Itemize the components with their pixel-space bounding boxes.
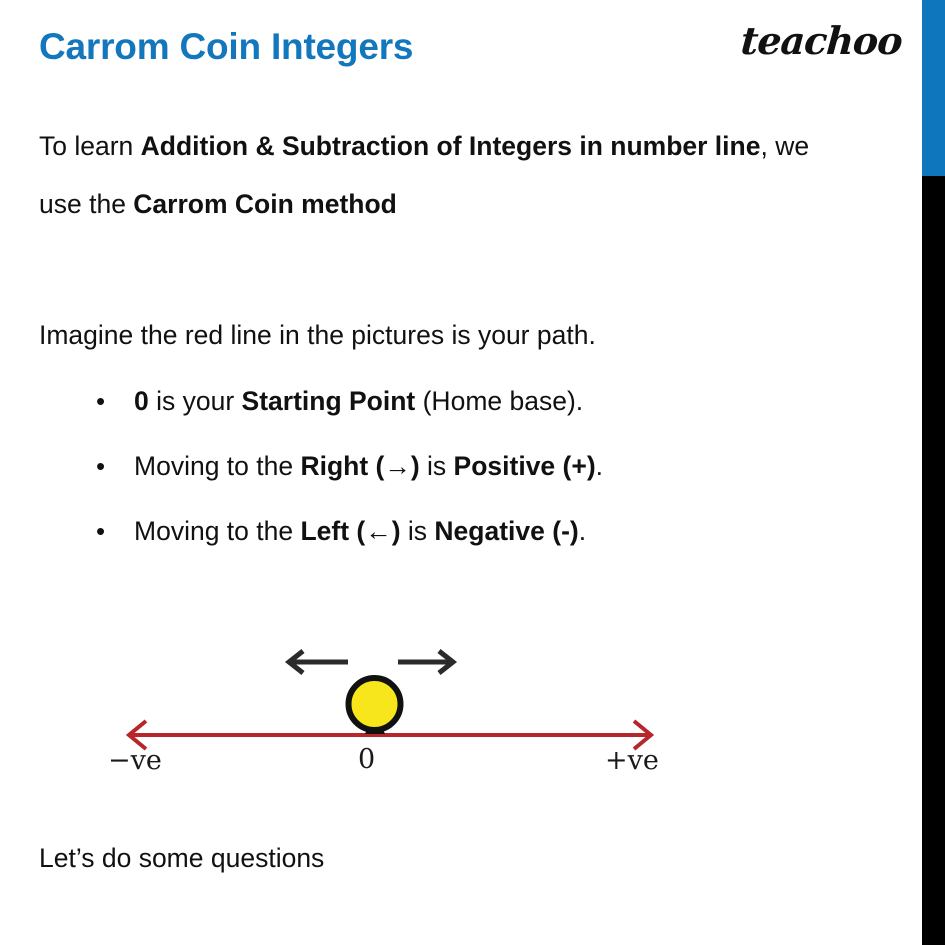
intro-line2-bold: Carrom Coin method <box>133 189 397 219</box>
number-line-graphic <box>100 620 680 800</box>
bullet1-pre: Moving to the <box>134 451 300 481</box>
axis-label-zero: 0 <box>358 744 375 775</box>
bullet0-bold2: Starting Point <box>242 386 416 416</box>
intro-line1-post: , we <box>760 131 809 161</box>
imagine-paragraph: Imagine the red line in the pictures is … <box>39 320 596 350</box>
axis-label-positive: +ve <box>605 745 659 776</box>
page-title: Carrom Coin Integers <box>39 26 413 68</box>
bullet0-bold1: 0 <box>134 386 149 416</box>
bullet1-bold2: Positive (+) <box>454 451 596 481</box>
bullet0-tail: (Home base). <box>415 386 583 416</box>
slide-canvas: Carrom Coin Integers teachoo To learn Ad… <box>0 0 922 945</box>
carrom-coin-marker <box>349 678 401 734</box>
edge-bar-black <box>922 176 945 945</box>
bullet1-mid1: is <box>420 451 454 481</box>
bullet1-tail: . <box>596 451 603 481</box>
intro-line1-bold: Addition & Subtraction of Integers in nu… <box>141 131 761 161</box>
edge-bar-blue <box>922 0 945 176</box>
bullet2-pre: Moving to the <box>134 516 300 546</box>
bullet-item-right-positive: •Moving to the Right (→) is Positive (+)… <box>96 451 603 482</box>
bullet2-bold2: Negative (-) <box>434 516 578 546</box>
intro-paragraph-line-1: To learn Addition & Subtraction of Integ… <box>39 131 809 161</box>
bullet2-tail: . <box>579 516 586 546</box>
intro-paragraph-line-2: use the Carrom Coin method <box>39 189 397 219</box>
left-direction-arrow-icon <box>289 651 348 673</box>
right-direction-arrow-icon <box>398 651 453 673</box>
carrom-coin-number-line-figure: −ve 0 +ve <box>100 620 680 800</box>
axis-label-negative: −ve <box>108 745 162 776</box>
closing-paragraph: Let’s do some questions <box>39 843 324 873</box>
bullet-item-left-negative: •Moving to the Left (←) is Negative (-). <box>96 516 586 547</box>
intro-line1-pre: To learn <box>39 131 141 161</box>
intro-line2-pre: use the <box>39 189 133 219</box>
bullet0-mid1: is your <box>149 386 242 416</box>
bullet1-bold1: Right (→) <box>300 451 419 481</box>
bullet-marker-icon: • <box>96 516 134 547</box>
bullet-marker-icon: • <box>96 451 134 482</box>
bullet-item-starting-point: •0 is your Starting Point (Home base). <box>96 386 583 417</box>
teachoo-logo: teachoo <box>740 18 904 63</box>
bullet-marker-icon: • <box>96 386 134 417</box>
bullet2-bold1: Left (←) <box>300 516 400 546</box>
bullet2-mid1: is <box>401 516 435 546</box>
